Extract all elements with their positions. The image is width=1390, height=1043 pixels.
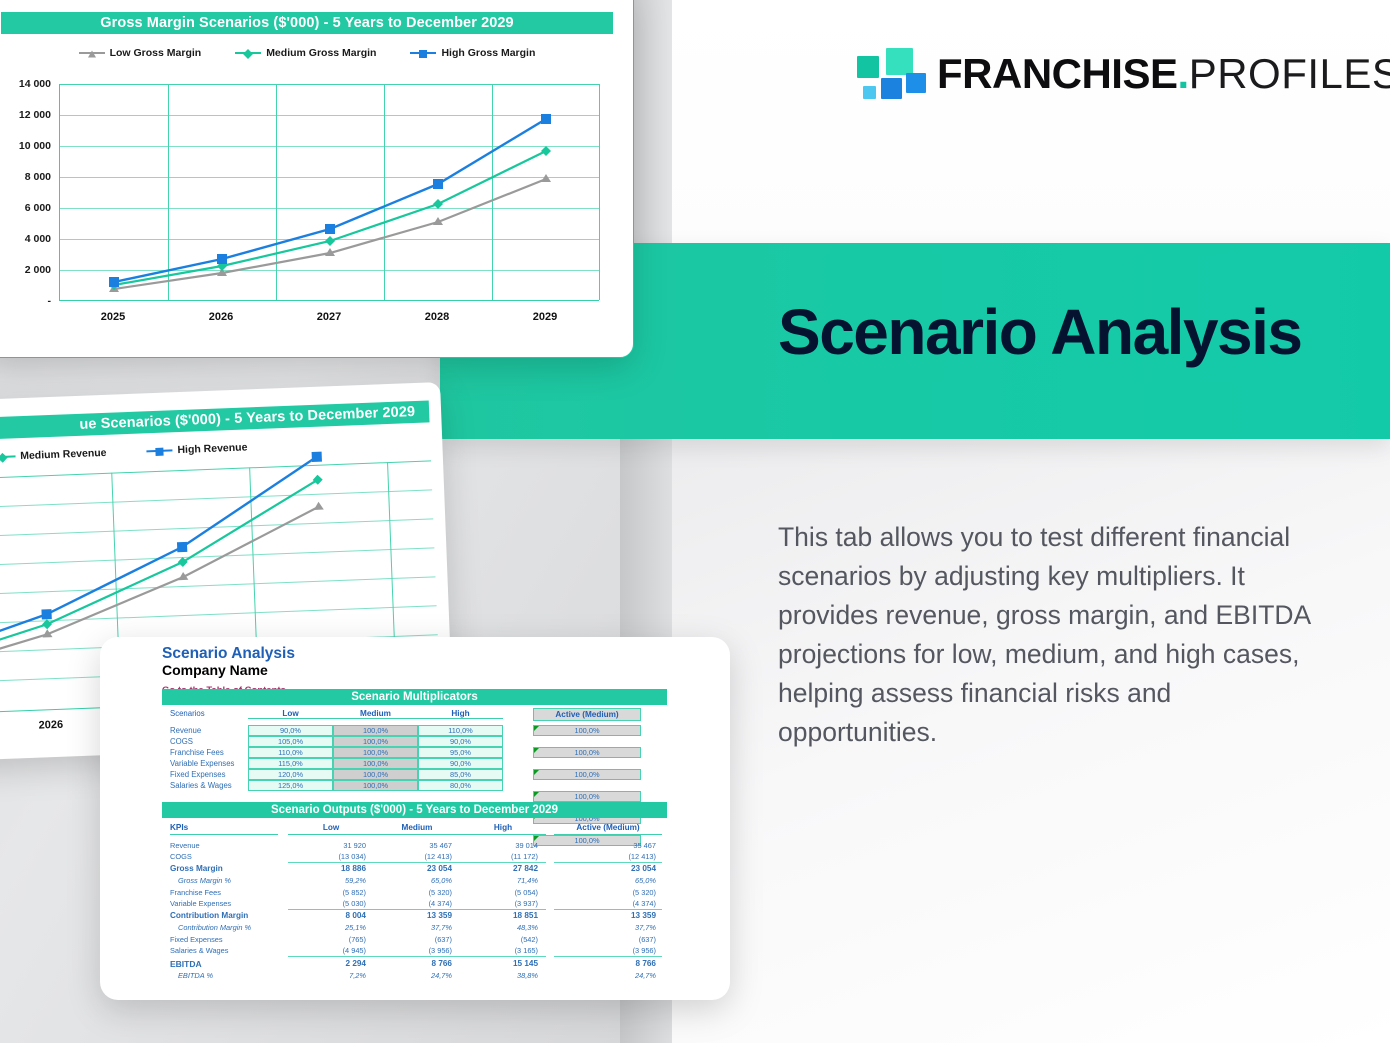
cell-high[interactable]: 38,8% bbox=[460, 971, 546, 980]
legend-line-gray-icon bbox=[79, 52, 105, 54]
cell-medium[interactable]: 100,0% bbox=[333, 758, 418, 769]
cell-high[interactable]: 18 851 bbox=[460, 911, 546, 920]
y-tick: - bbox=[48, 295, 52, 307]
cell-low[interactable]: 90,0% bbox=[248, 725, 333, 736]
cell-active[interactable]: 37,7% bbox=[554, 923, 662, 932]
row-label: Revenue bbox=[170, 841, 200, 850]
cell-high[interactable]: 90,0% bbox=[418, 758, 503, 769]
cell-high[interactable]: 39 014 bbox=[460, 841, 546, 850]
band-scenario-multiplicators: Scenario Multiplicators bbox=[162, 689, 667, 705]
logo-squares-icon bbox=[855, 48, 915, 100]
row-label: EBITDA bbox=[170, 959, 202, 969]
plot-grid bbox=[59, 84, 599, 301]
cell-high[interactable]: 90,0% bbox=[418, 736, 503, 747]
cell-medium[interactable]: (5 320) bbox=[374, 888, 460, 897]
cell-low[interactable]: 125,0% bbox=[248, 780, 333, 791]
cell-low[interactable]: 120,0% bbox=[248, 769, 333, 780]
gross-margin-plot-area: - 2 000 4 000 6 000 8 000 10 000 12 000 … bbox=[1, 69, 613, 319]
x-tick: 2026 bbox=[38, 719, 63, 732]
legend-line-blue-icon bbox=[410, 52, 436, 54]
row-label: Contribution Margin % bbox=[178, 923, 251, 932]
row-label: Gross Margin bbox=[170, 864, 223, 873]
x-tick: 2027 bbox=[317, 311, 341, 323]
sheet-title: Scenario Analysis bbox=[162, 645, 295, 662]
x-tick: 2029 bbox=[533, 311, 557, 323]
col-header-kpis: KPIs bbox=[170, 823, 278, 835]
logo-wordmark: FRANCHISE.PROFILES bbox=[937, 53, 1390, 95]
y-tick: 12 000 bbox=[19, 109, 51, 121]
row-label: Variable Expenses bbox=[170, 899, 231, 908]
brand-logo: FRANCHISE.PROFILES bbox=[855, 48, 1390, 100]
col-header-active-medium: Active (Medium) bbox=[554, 823, 662, 835]
cell-high[interactable]: 27 842 bbox=[460, 864, 546, 873]
cell-high[interactable]: (11 172) bbox=[460, 852, 546, 861]
x-tick: 2026 bbox=[209, 311, 233, 323]
legend-item-high-gross-margin[interactable]: High Gross Margin bbox=[410, 47, 535, 59]
row-label: Contribution Margin bbox=[170, 911, 248, 920]
legend-line-blue-icon bbox=[146, 449, 172, 452]
cell-low[interactable]: 110,0% bbox=[248, 747, 333, 758]
row-label: COGS bbox=[170, 737, 193, 746]
cell-medium[interactable]: 35 467 bbox=[374, 841, 460, 850]
col-header-low: Low bbox=[288, 823, 374, 835]
row-label: Salaries & Wages bbox=[170, 781, 232, 790]
y-tick: 6 000 bbox=[25, 202, 51, 214]
col-header-medium: Medium bbox=[374, 823, 460, 835]
cell-medium[interactable]: 37,7% bbox=[374, 923, 460, 932]
logo-word-bold: FRANCHISE bbox=[937, 50, 1178, 97]
row-label: Fixed Expenses bbox=[170, 935, 223, 944]
x-tick: 2028 bbox=[425, 311, 449, 323]
chart-legend-gross-margin: Low Gross Margin Medium Gross Margin Hig… bbox=[1, 45, 613, 61]
legend-item-medium-revenue[interactable]: Medium Revenue bbox=[0, 447, 107, 463]
row-label: Variable Expenses bbox=[170, 759, 234, 768]
cell-low[interactable]: (5 030) bbox=[288, 899, 374, 908]
legend-item-medium-gross-margin[interactable]: Medium Gross Margin bbox=[235, 47, 376, 59]
logo-word-light: PROFILES bbox=[1189, 50, 1390, 97]
row-label: Revenue bbox=[170, 726, 201, 735]
cell-medium[interactable]: (3 956) bbox=[374, 946, 460, 955]
col-header-active-medium: Active (Medium) bbox=[533, 708, 641, 721]
cell-high[interactable]: (5 054) bbox=[460, 888, 546, 897]
cell-low[interactable]: 31 920 bbox=[288, 841, 374, 850]
cell-low[interactable]: 25,1% bbox=[288, 923, 374, 932]
table-scenario-outputs: KPIs Low Medium High Active (Medium) Rev… bbox=[162, 823, 667, 983]
gross-margin-chart-card: Gross Margin Scenarios ($'000) - 5 Years… bbox=[0, 0, 634, 358]
cell-active[interactable]: 100,0% bbox=[533, 725, 641, 736]
cell-low[interactable]: (765) bbox=[288, 935, 374, 944]
col-header-low: Low bbox=[248, 709, 333, 719]
cell-medium[interactable]: 65,0% bbox=[374, 876, 460, 885]
background-white-top bbox=[672, 0, 1390, 243]
row-label: EBITDA % bbox=[178, 971, 213, 980]
cell-medium[interactable]: (4 374) bbox=[374, 899, 460, 908]
cell-medium[interactable]: 8 766 bbox=[374, 959, 460, 968]
cell-low[interactable]: (4 945) bbox=[288, 946, 374, 955]
cell-active[interactable]: 35 467 bbox=[554, 841, 662, 850]
y-tick: 2 000 bbox=[25, 264, 51, 276]
table-scenario-multiplicators: Scenarios Low Medium High Active (Medium… bbox=[162, 709, 667, 799]
y-tick: 4 000 bbox=[25, 233, 51, 245]
cell-active[interactable]: 100,0% bbox=[533, 791, 641, 802]
cell-medium[interactable]: 100,0% bbox=[333, 725, 418, 736]
cell-high[interactable]: (542) bbox=[460, 935, 546, 944]
cell-high[interactable]: 85,0% bbox=[418, 769, 503, 780]
cell-active[interactable]: 23 054 bbox=[554, 864, 662, 873]
cell-low[interactable]: 2 294 bbox=[288, 959, 374, 968]
cell-active[interactable]: (5 320) bbox=[554, 888, 662, 897]
cell-low[interactable]: 105,0% bbox=[248, 736, 333, 747]
band-scenario-outputs: Scenario Outputs ($'000) - 5 Years to De… bbox=[162, 802, 667, 818]
cell-high[interactable]: (3 165) bbox=[460, 946, 546, 955]
cell-active[interactable]: (12 413) bbox=[554, 852, 662, 861]
legend-item-low-gross-margin[interactable]: Low Gross Margin bbox=[79, 47, 202, 59]
cell-medium[interactable]: 100,0% bbox=[333, 747, 418, 758]
cell-low[interactable]: (5 852) bbox=[288, 888, 374, 897]
cell-low[interactable]: (13 034) bbox=[288, 852, 374, 861]
legend-label: Medium Revenue bbox=[20, 447, 107, 462]
cell-active[interactable]: 24,7% bbox=[554, 971, 662, 980]
row-label: Franchise Fees bbox=[170, 888, 221, 897]
row-label: Franchise Fees bbox=[170, 748, 224, 757]
legend-line-green-icon bbox=[0, 455, 15, 458]
cell-active[interactable]: 8 766 bbox=[554, 959, 662, 968]
cell-high[interactable]: 95,0% bbox=[418, 747, 503, 758]
logo-dot: . bbox=[1178, 50, 1189, 97]
y-axis-labels: - 2 000 4 000 6 000 8 000 10 000 12 000 … bbox=[1, 69, 55, 319]
y-tick: 8 000 bbox=[25, 171, 51, 183]
row-label: Gross Margin % bbox=[178, 876, 231, 885]
cell-high[interactable]: 15 145 bbox=[460, 959, 546, 968]
cell-low[interactable]: 115,0% bbox=[248, 758, 333, 769]
row-label: COGS bbox=[170, 852, 192, 861]
cell-medium[interactable]: (12 413) bbox=[374, 852, 460, 861]
cell-high[interactable]: (3 937) bbox=[460, 899, 546, 908]
row-label: Salaries & Wages bbox=[170, 946, 228, 955]
cell-medium[interactable]: 13 359 bbox=[374, 911, 460, 920]
x-tick: 2025 bbox=[101, 311, 125, 323]
cell-low[interactable]: 7,2% bbox=[288, 971, 374, 980]
cell-high[interactable]: 80,0% bbox=[418, 780, 503, 791]
col-header-high: High bbox=[418, 709, 503, 719]
scenario-analysis-sheet-card: Scenario Analysis Company Name Go to the… bbox=[100, 637, 730, 1000]
legend-line-green-icon bbox=[235, 52, 261, 54]
legend-item-high-revenue[interactable]: High Revenue bbox=[146, 441, 247, 457]
cell-medium[interactable]: 100,0% bbox=[333, 736, 418, 747]
col-header-medium: Medium bbox=[333, 709, 418, 719]
col-header-high: High bbox=[460, 823, 546, 835]
cell-medium[interactable]: 100,0% bbox=[333, 780, 418, 791]
sheet-company: Company Name bbox=[162, 662, 295, 680]
cell-medium[interactable]: 24,7% bbox=[374, 971, 460, 980]
cell-medium[interactable]: (637) bbox=[374, 935, 460, 944]
cell-high[interactable]: 110,0% bbox=[418, 725, 503, 736]
cell-high[interactable]: 71,4% bbox=[460, 876, 546, 885]
cell-active[interactable]: 13 359 bbox=[554, 911, 662, 920]
cell-low[interactable]: 8 004 bbox=[288, 911, 374, 920]
row-label: Fixed Expenses bbox=[170, 770, 225, 779]
cell-active[interactable]: (637) bbox=[554, 935, 662, 944]
legend-label: Low Gross Margin bbox=[110, 47, 202, 59]
cell-medium[interactable]: 100,0% bbox=[333, 769, 418, 780]
legend-label: High Revenue bbox=[177, 441, 247, 456]
chart-title-gross-margin: Gross Margin Scenarios ($'000) - 5 Years… bbox=[1, 12, 613, 34]
legend-label: Medium Gross Margin bbox=[266, 47, 376, 59]
cell-low[interactable]: 18 886 bbox=[288, 864, 374, 873]
cell-active[interactable]: (3 956) bbox=[554, 946, 662, 955]
page-title: Scenario Analysis bbox=[778, 300, 1302, 364]
legend-label: High Gross Margin bbox=[441, 47, 535, 59]
cell-low[interactable]: 59,2% bbox=[288, 876, 374, 885]
page-description: This tab allows you to test different fi… bbox=[778, 518, 1326, 752]
cell-active[interactable]: (4 374) bbox=[554, 899, 662, 908]
y-tick: 14 000 bbox=[19, 78, 51, 90]
cell-active[interactable]: 100,0% bbox=[533, 747, 641, 758]
cell-active[interactable]: 65,0% bbox=[554, 876, 662, 885]
y-tick: 10 000 bbox=[19, 140, 51, 152]
cell-high[interactable]: 48,3% bbox=[460, 923, 546, 932]
cell-medium[interactable]: 23 054 bbox=[374, 864, 460, 873]
cell-active[interactable]: 100,0% bbox=[533, 769, 641, 780]
series-paths bbox=[60, 84, 600, 301]
col-header-scenarios: Scenarios bbox=[170, 709, 205, 718]
